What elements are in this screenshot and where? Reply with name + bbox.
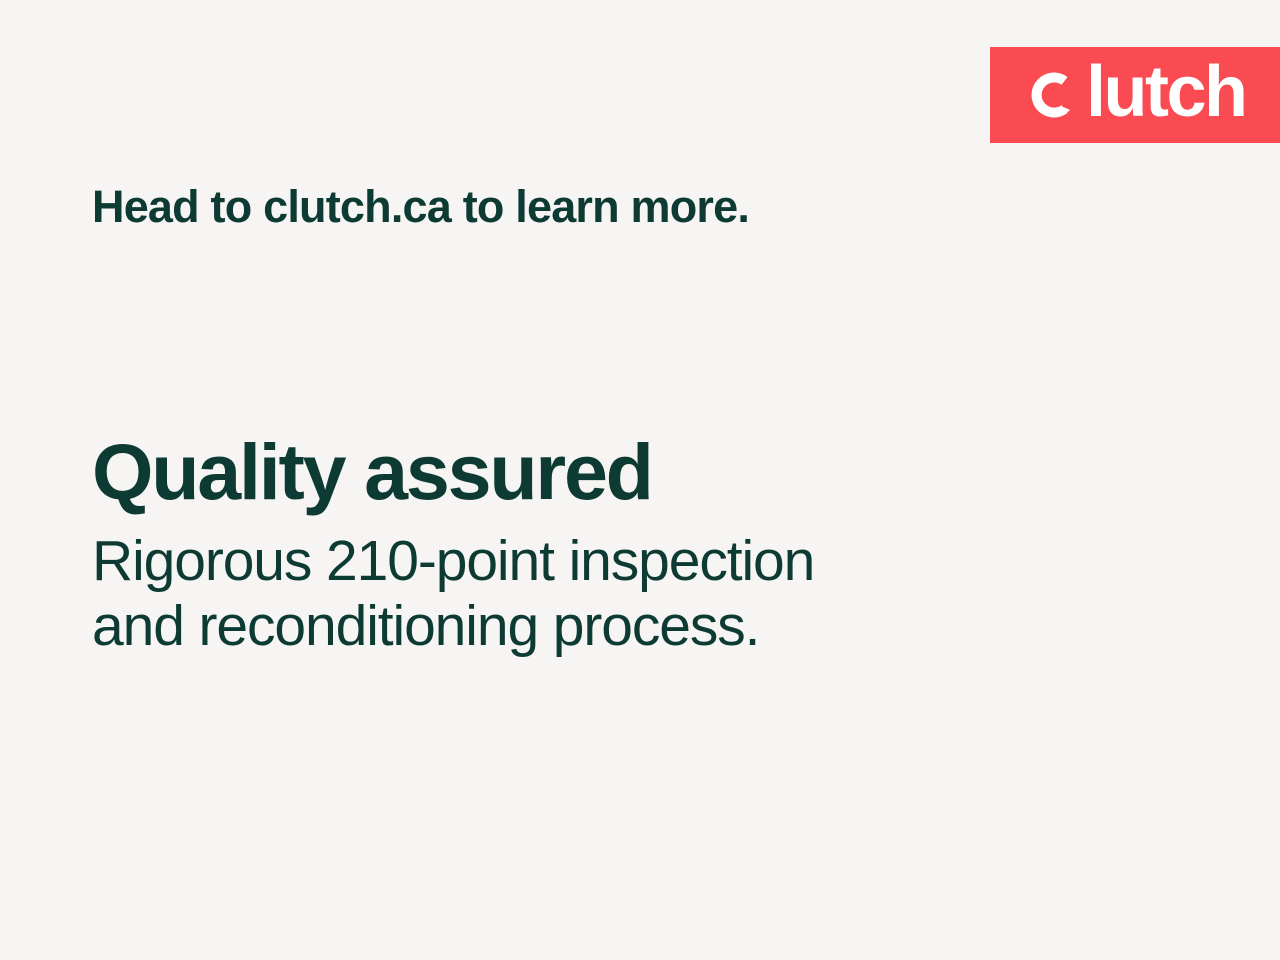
lead-line: Head to clutch.ca to learn more. — [92, 180, 749, 234]
subcopy-line-1: Rigorous 210-point inspection — [92, 529, 992, 594]
headline-block: Quality assured Rigorous 210-point inspe… — [92, 432, 1092, 659]
slide-canvas: lutch Head to clutch.ca to learn more. Q… — [0, 0, 1280, 960]
page-title: Quality assured — [92, 432, 1092, 511]
subcopy: Rigorous 210-point inspection and recond… — [92, 529, 992, 659]
subcopy-line-2: and reconditioning process. — [92, 594, 992, 659]
content-area: Head to clutch.ca to learn more. Quality… — [92, 0, 1192, 960]
